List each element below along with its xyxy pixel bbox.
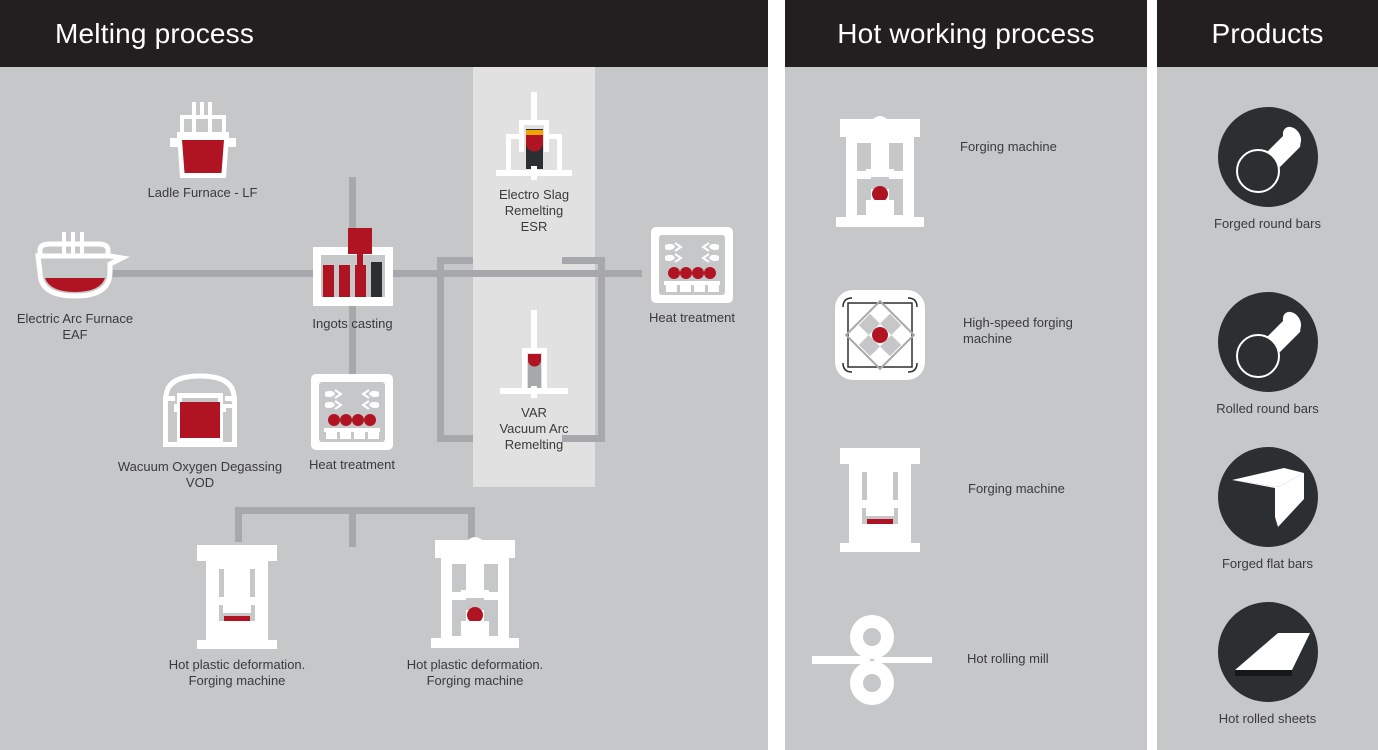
forging-press-round-icon [427, 528, 523, 652]
product-forged-round-bars[interactable]: Forged round bars [1157, 107, 1378, 231]
heat-treatment-icon [309, 372, 395, 452]
row-forging-machine-2[interactable]: Forging machine [785, 445, 1147, 575]
vod-icon [152, 366, 248, 454]
forging-press-right-label: Hot plastic deformation. Forging machine [396, 657, 554, 689]
product-rolled-round-bars[interactable]: Rolled round bars [1157, 292, 1378, 416]
high-speed-forging-label: High-speed forging machine [963, 315, 1073, 347]
ingots-casting-icon [308, 225, 398, 311]
product-hot-rolled-sheets[interactable]: Hot rolled sheets [1157, 602, 1378, 726]
var-icon [492, 310, 576, 400]
melting-panel-body: Ladle Furnace - LF Electric Arc Furnace … [0, 67, 768, 750]
panel-products: Products Forged round bars [1157, 0, 1378, 750]
rolled-sheet-icon [1218, 602, 1318, 702]
flat-bar-icon [1218, 447, 1318, 547]
esr-label: Electro Slag Remelting ESR [473, 187, 595, 235]
hot-rolling-mill-icon [807, 607, 937, 707]
row-forging-machine-1[interactable]: Forging machine [785, 107, 1147, 237]
line-bracket-left-bottom [437, 435, 473, 442]
panel-melting-process: Melting process [0, 0, 768, 750]
round-bar-icon [1218, 292, 1318, 392]
line-forging-left-drop [235, 507, 242, 542]
melting-panel-title: Melting process [55, 18, 254, 50]
ladle-furnace-icon [160, 102, 246, 180]
line-forging-crossbar [235, 507, 475, 514]
ladle-furnace-label: Ladle Furnace - LF [130, 185, 275, 201]
esr-icon [492, 92, 576, 182]
heat-treatment-right-label: Heat treatment [632, 310, 752, 326]
var-label: VAR Vacuum Arc Remelting [473, 405, 595, 453]
node-vod[interactable]: Wacuum Oxygen Degassing VOD [110, 366, 290, 491]
row-hot-rolling-mill[interactable]: Hot rolling mill [785, 607, 1147, 727]
products-panel-title: Products [1211, 18, 1323, 50]
forging-machine-2-label: Forging machine [968, 481, 1065, 497]
node-var[interactable]: VAR Vacuum Arc Remelting [473, 310, 595, 453]
melting-panel-header: Melting process [0, 0, 768, 67]
hot-working-panel-body: Forging machine [785, 67, 1147, 750]
heat-treatment-left-label: Heat treatment [292, 457, 412, 473]
node-ingots-casting[interactable]: Ingots casting [290, 225, 415, 332]
row-high-speed-forging[interactable]: High-speed forging machine [785, 285, 1147, 415]
node-esr[interactable]: Electro Slag Remelting ESR [473, 92, 595, 235]
node-forging-press-right[interactable]: Hot plastic deformation. Forging machine [396, 528, 554, 689]
forging-press-flat-icon [833, 445, 927, 555]
line-bracket-left-vertical [437, 257, 444, 442]
round-bar-icon [1218, 107, 1318, 207]
panel-hot-working-process: Hot working process [785, 0, 1147, 750]
rolled-round-bars-label: Rolled round bars [1157, 401, 1378, 416]
electric-arc-furnace-icon [18, 232, 133, 306]
hot-rolling-mill-label: Hot rolling mill [967, 651, 1049, 667]
forged-round-bars-label: Forged round bars [1157, 216, 1378, 231]
line-bracket-left-top [437, 257, 473, 264]
hot-working-panel-title: Hot working process [837, 18, 1094, 50]
forged-flat-bars-label: Forged flat bars [1157, 556, 1378, 571]
product-forged-flat-bars[interactable]: Forged flat bars [1157, 447, 1378, 571]
vod-label: Wacuum Oxygen Degassing VOD [110, 459, 290, 491]
hot-working-panel-header: Hot working process [785, 0, 1147, 67]
products-panel-body: Forged round bars Rolled round bars [1157, 67, 1378, 750]
infographic-root: Melting process [0, 0, 1378, 750]
forging-press-left-label: Hot plastic deformation. Forging machine [158, 657, 316, 689]
node-ladle-furnace[interactable]: Ladle Furnace - LF [130, 102, 275, 201]
node-heat-treatment-right[interactable]: Heat treatment [632, 225, 752, 326]
high-speed-forging-icon [830, 285, 930, 385]
forging-press-round-icon [832, 107, 928, 231]
forging-press-flat-icon [190, 542, 284, 652]
forging-machine-1-label: Forging machine [960, 139, 1057, 155]
products-panel-header: Products [1157, 0, 1378, 67]
node-electric-arc-furnace[interactable]: Electric Arc Furnace EAF [5, 232, 145, 343]
electric-arc-furnace-label: Electric Arc Furnace EAF [5, 311, 145, 343]
node-heat-treatment-left[interactable]: Heat treatment [292, 372, 412, 473]
ingots-casting-label: Ingots casting [290, 316, 415, 332]
heat-treatment-icon [649, 225, 735, 305]
line-bracket-right-top [562, 257, 605, 264]
hot-rolled-sheets-label: Hot rolled sheets [1157, 711, 1378, 726]
line-bracket-right-vertical [598, 257, 605, 442]
node-forging-press-left[interactable]: Hot plastic deformation. Forging machine [158, 542, 316, 689]
